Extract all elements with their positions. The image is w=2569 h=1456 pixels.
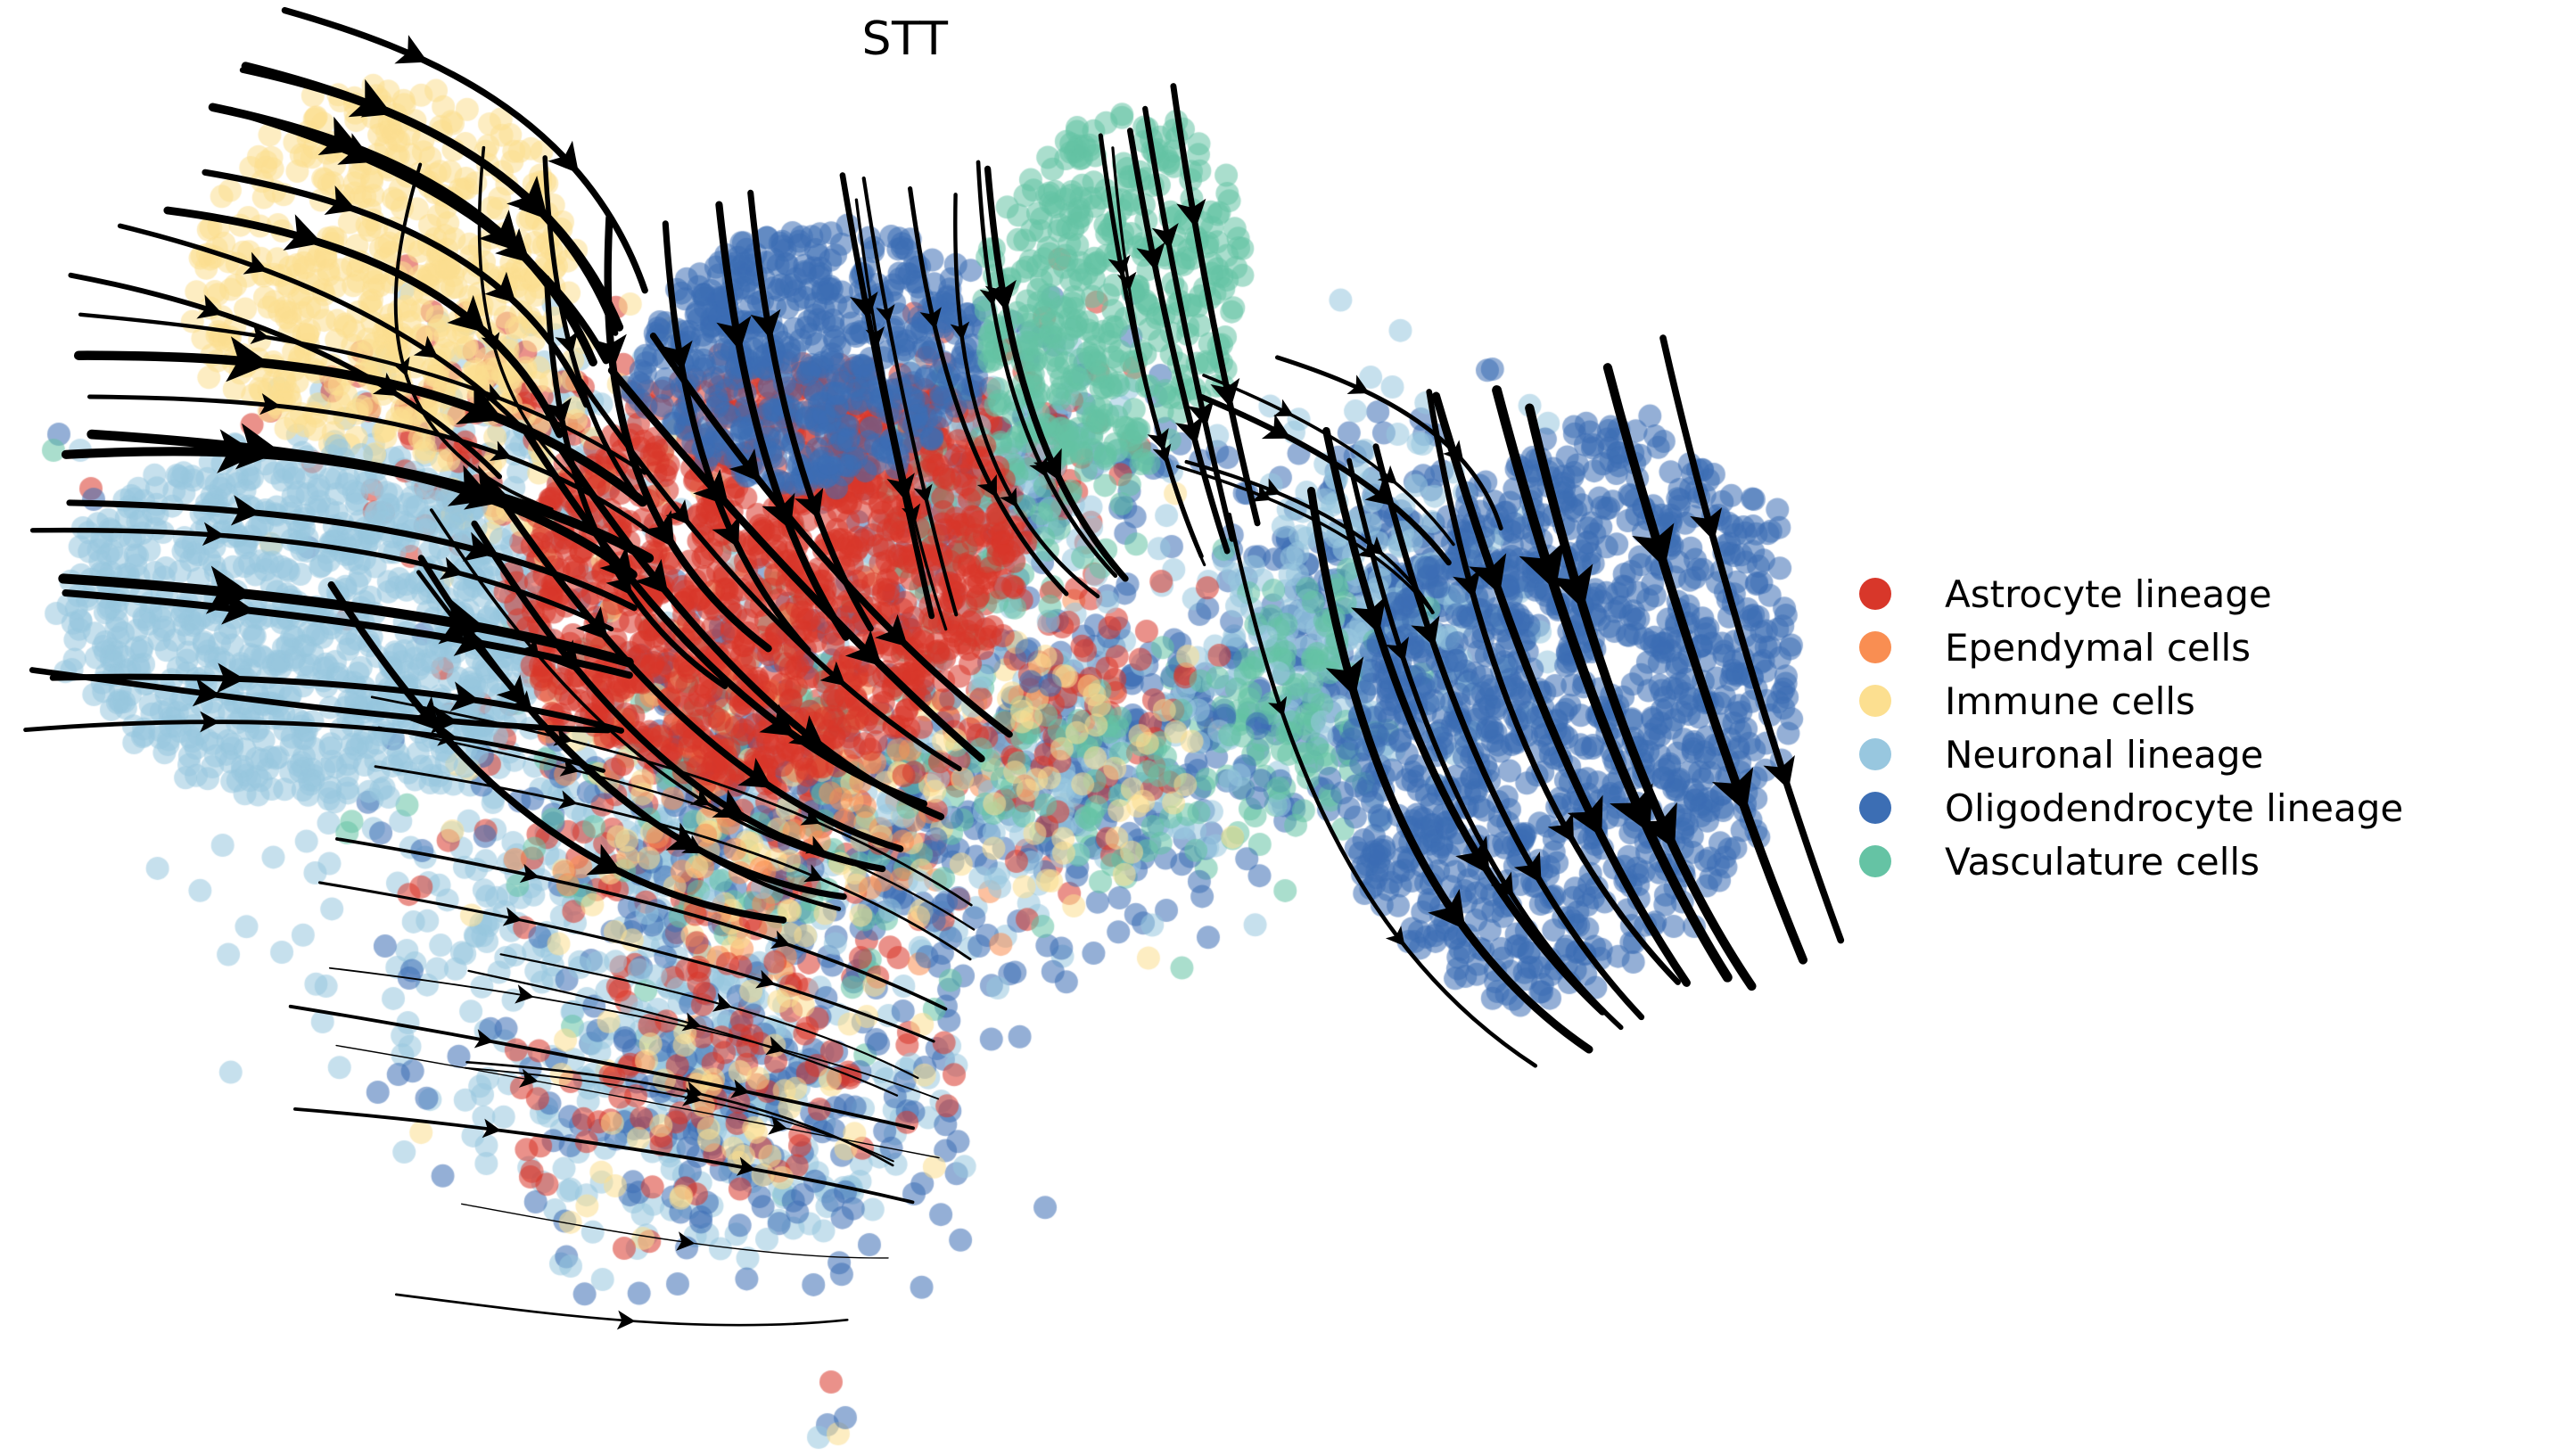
legend-marker-icon [1859, 738, 1891, 770]
legend-item[interactable]: Oligodendrocyte lineage [1859, 781, 2403, 835]
legend-item-label: Ependymal cells [1945, 626, 2251, 670]
legend-item[interactable]: Immune cells [1859, 674, 2403, 728]
legend-item-label: Immune cells [1945, 679, 2195, 723]
legend-item-label: Vasculature cells [1945, 840, 2260, 884]
legend-item-label: Oligodendrocyte lineage [1945, 786, 2403, 830]
legend-marker-icon [1859, 685, 1891, 717]
legend: Astrocyte lineageEpendymal cellsImmune c… [1859, 567, 2403, 888]
legend-marker-icon [1859, 792, 1891, 824]
legend-item[interactable]: Vasculature cells [1859, 835, 2403, 888]
legend-marker-icon [1859, 631, 1891, 663]
legend-item[interactable]: Ependymal cells [1859, 621, 2403, 674]
legend-marker-icon [1859, 578, 1891, 610]
legend-item-label: Astrocyte lineage [1945, 572, 2272, 616]
legend-item[interactable]: Astrocyte lineage [1859, 567, 2403, 621]
legend-marker-icon [1859, 845, 1891, 877]
stt-velocity-figure: STT Astrocyte lineageEpendymal cellsImmu… [0, 0, 2569, 1456]
legend-item-label: Neuronal lineage [1945, 733, 2263, 777]
legend-item[interactable]: Neuronal lineage [1859, 728, 2403, 781]
